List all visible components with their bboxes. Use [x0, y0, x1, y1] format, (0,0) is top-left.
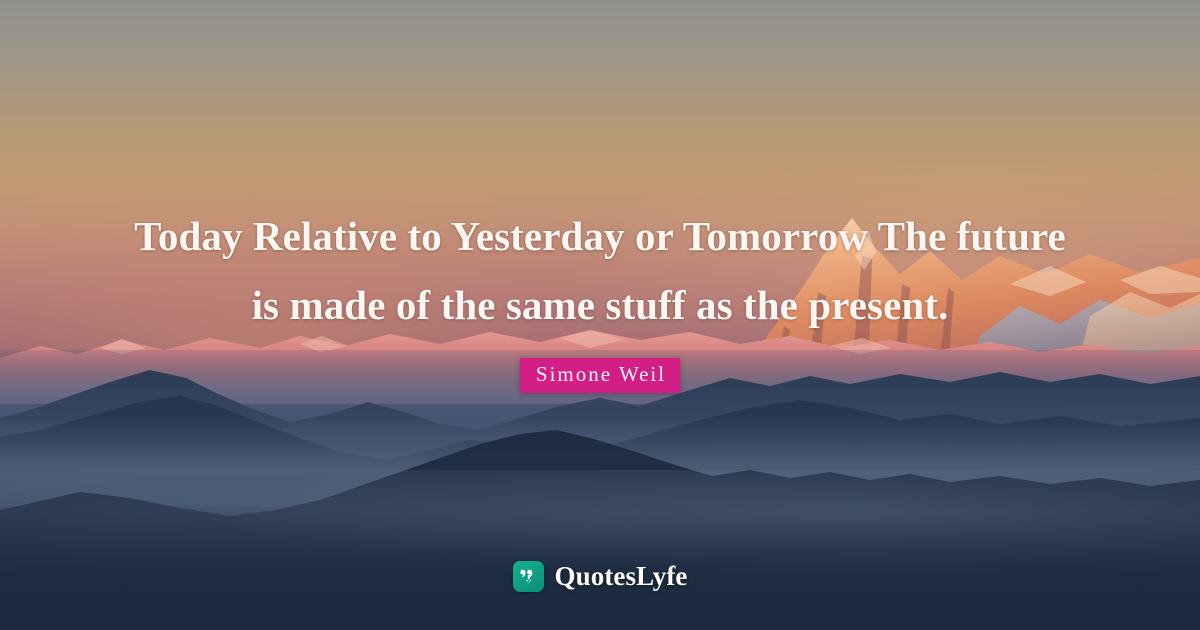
brand-name: QuotesLyfe	[555, 561, 688, 592]
card-content: Today Relative to Yesterday or Tomorrow …	[0, 0, 1200, 630]
quote-card: Today Relative to Yesterday or Tomorrow …	[0, 0, 1200, 630]
brand-logo[interactable]: QuotesLyfe	[0, 561, 1200, 592]
quote-text: Today Relative to Yesterday or Tomorrow …	[130, 202, 1070, 340]
author-container: Simone Weil	[520, 358, 680, 394]
quote-mark-icon	[513, 561, 544, 592]
author-badge: Simone Weil	[520, 358, 680, 394]
